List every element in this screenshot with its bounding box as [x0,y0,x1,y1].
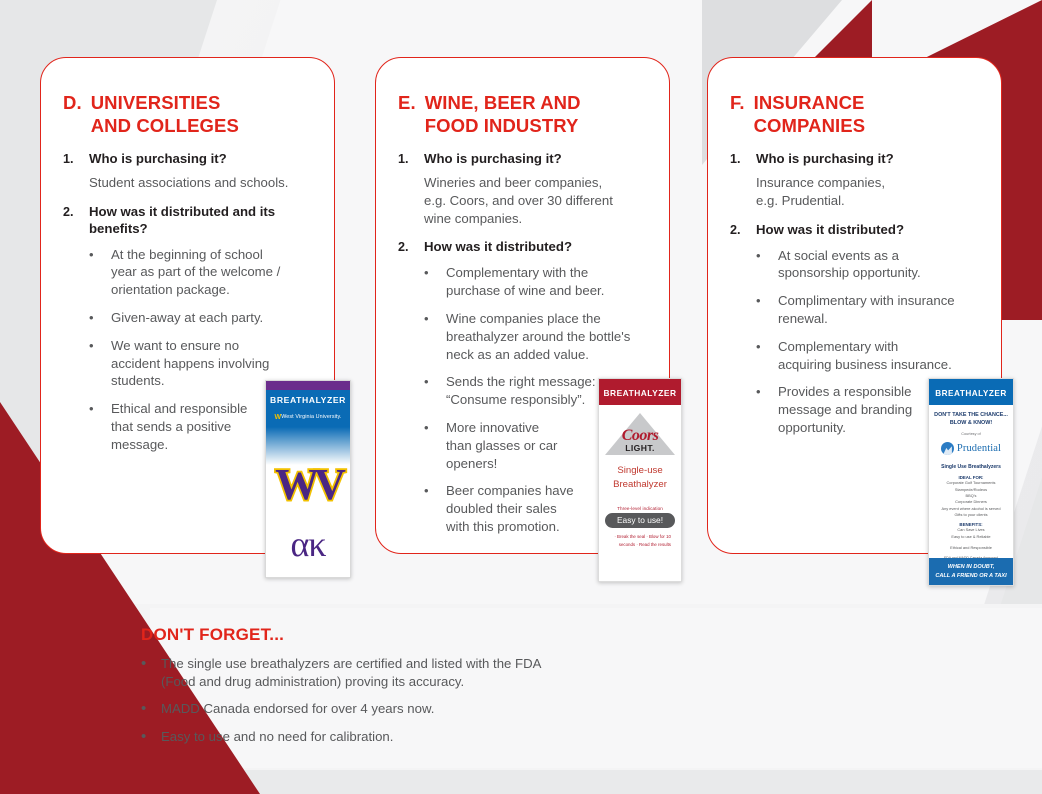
section-f-q1-answer: Insurance companies, e.g. Prudential. [756,174,979,210]
bullet-text: Given-away at each party. [111,309,312,327]
section-e-q2-number: 2. [398,239,424,256]
list-item: •Complementary with the purchase of wine… [424,264,647,300]
bullet-icon: • [89,309,111,327]
section-f-q1-text: Who is purchasing it? [756,151,894,168]
section-d-q1-answer: Student associations and schools. [89,174,312,192]
section-e-q1-number: 1. [398,151,424,168]
section-e-q2-text: How was it distributed? [424,239,572,256]
section-d-title: D. UNIVERSITIES AND COLLEGES [63,92,312,137]
prudential-breathalyzer-label: BREATHALYZER [935,389,1007,398]
section-d-heading: UNIVERSITIES AND COLLEGES [91,92,239,137]
section-f-q2-number: 2. [730,222,756,239]
bullet-icon: • [756,338,778,374]
coors-tagline: Single-use Breathalyzer [603,464,677,492]
section-e-question-1: 1. Who is purchasing it? [398,151,647,168]
bullet-text: Complementary with the purchase of wine … [446,264,647,300]
wvu-greek-letters: ακ [266,523,350,565]
section-e-question-2: 2. How was it distributed? [398,239,647,256]
coors-breathalyzer-label: BREATHALYZER [603,388,676,398]
bullet-text: At the beginning of school year as part … [111,246,312,299]
bullet-icon: • [756,383,778,436]
list-item: •Easy to use and no need for calibration… [141,728,761,747]
section-d-question-1: 1. Who is purchasing it? [63,151,312,168]
wvu-wv-mark: WV [275,460,341,509]
section-d-q1-number: 1. [63,151,89,168]
bullet-icon: • [141,700,161,719]
coors-indication-label: Three-level indication [603,506,677,511]
bullet-icon: • [424,264,446,300]
list-item: •At social events as a sponsorship oppor… [756,247,979,283]
bullet-icon: • [89,246,111,299]
section-e-title: E. WINE, BEER AND FOOD INDUSTRY [398,92,647,137]
bullet-icon: • [424,482,446,535]
section-d-letter: D. [63,92,82,137]
bullet-icon: • [424,419,446,472]
bullet-text: Complimentary with insurance renewal. [778,292,979,328]
prudential-brand-name: Prudential [957,443,1001,454]
bullet-icon: • [89,337,111,390]
coors-instruction-steps: · Break the seal · Blow for 10 seconds ·… [603,533,677,549]
prudential-subtitle: Single Use Breathalyzers [933,464,1009,470]
product-card-coors-breathalyzer: BREATHALYZER Coors LIGHT. Single-use Bre… [598,378,682,582]
prudential-benefits-list: Can Save Lives Easy to use & Reliable [933,527,1009,540]
wvu-university-label: WWest Virginia University. [266,414,350,427]
prudential-slogan: DON'T TAKE THE CHANCE... BLOW & KNOW! [933,411,1009,427]
section-f-q1-number: 1. [730,151,756,168]
bullet-icon: • [424,310,446,363]
section-e-heading: WINE, BEER AND FOOD INDUSTRY [425,92,581,137]
section-f-question-1: 1. Who is purchasing it? [730,151,979,168]
dont-forget-title: DON'T FORGET... [141,625,761,645]
bullet-text: Easy to use and no need for calibration. [161,728,761,747]
list-item: •Given-away at each party. [89,309,312,327]
list-item: •Wine companies place the breathalyzer a… [424,310,647,363]
bullet-icon: • [424,373,446,409]
bullet-text: At social events as a sponsorship opport… [778,247,979,283]
list-item: •At the beginning of school year as part… [89,246,312,299]
coors-mountain-icon: Coors LIGHT. [605,413,675,455]
wvu-header: BREATHALYZER WWest Virginia University. [266,390,350,427]
bullet-icon: • [141,728,161,747]
section-f-letter: F. [730,92,745,137]
section-f-title: F. INSURANCE COMPANIES [730,92,979,137]
section-d-q1-text: Who is purchasing it? [89,151,227,168]
wvu-flying-wv-logo: WV [266,467,350,504]
prudential-body: DON'T TAKE THE CHANCE... BLOW & KNOW! Co… [929,405,1013,560]
bullet-icon: • [756,247,778,283]
prudential-logo: Prudential [933,442,1009,455]
product-card-prudential-breathalyzer: BREATHALYZER DON'T TAKE THE CHANCE... BL… [928,378,1014,586]
section-e-letter: E. [398,92,416,137]
prudential-footer-message: WHEN IN DOUBT, CALL A FRIEND OR A TAXI [929,558,1013,585]
dont-forget-list: •The single use breathalyzers are certif… [141,655,761,747]
section-d-q2-number: 2. [63,204,89,238]
bullet-text: Wine companies place the breathalyzer ar… [446,310,647,363]
coors-brand-sub: LIGHT. [605,443,675,453]
list-item: •Complimentary with insurance renewal. [756,292,979,328]
bullet-text: MADD Canada endorsed for over 4 years no… [161,700,761,719]
bullet-text: Complementary with acquiring business in… [778,338,979,374]
product-card-wvu-breathalyzer: BREATHALYZER WWest Virginia University. … [265,380,351,578]
prudential-ethical-note: Ethical and Responsible [933,545,1009,550]
section-d-question-2: 2. How was it distributed and its benefi… [63,204,312,238]
coors-easy-to-use-badge: Easy to use! [605,513,675,528]
section-f-question-2: 2. How was it distributed? [730,222,979,239]
prudential-header: BREATHALYZER [929,379,1013,405]
section-d-q2-text: How was it distributed and its benefits? [89,204,312,238]
bullet-icon: • [141,655,161,691]
prudential-rock-icon [941,442,954,455]
bullet-icon: • [756,292,778,328]
list-item: •MADD Canada endorsed for over 4 years n… [141,700,761,719]
section-e-q1-answer: Wineries and beer companies, e.g. Coors,… [424,174,647,227]
coors-header: BREATHALYZER [599,379,681,405]
wvu-breathalyzer-label: BREATHALYZER [266,395,350,405]
coors-body: Coors LIGHT. Single-use Breathalyzer Thr… [599,405,681,553]
wvu-university-text: West Virginia University. [281,414,341,420]
dont-forget-section: DON'T FORGET... •The single use breathal… [141,625,761,756]
prudential-ideal-list: Corporate Golf Tournaments Stampede/Rode… [933,480,1009,518]
section-e-q1-text: Who is purchasing it? [424,151,562,168]
bullet-text: The single use breathalyzers are certifi… [161,655,761,691]
bullet-icon: • [89,400,111,453]
section-f-heading: INSURANCE COMPANIES [754,92,979,137]
list-item: •Complementary with acquiring business i… [756,338,979,374]
slide-canvas: D. UNIVERSITIES AND COLLEGES 1. Who is p… [0,0,1042,794]
prudential-courtesy-label: Courtesy of [933,432,1009,436]
list-item: •The single use breathalyzers are certif… [141,655,761,691]
wvu-top-strip [266,381,350,390]
section-f-q2-text: How was it distributed? [756,222,904,239]
